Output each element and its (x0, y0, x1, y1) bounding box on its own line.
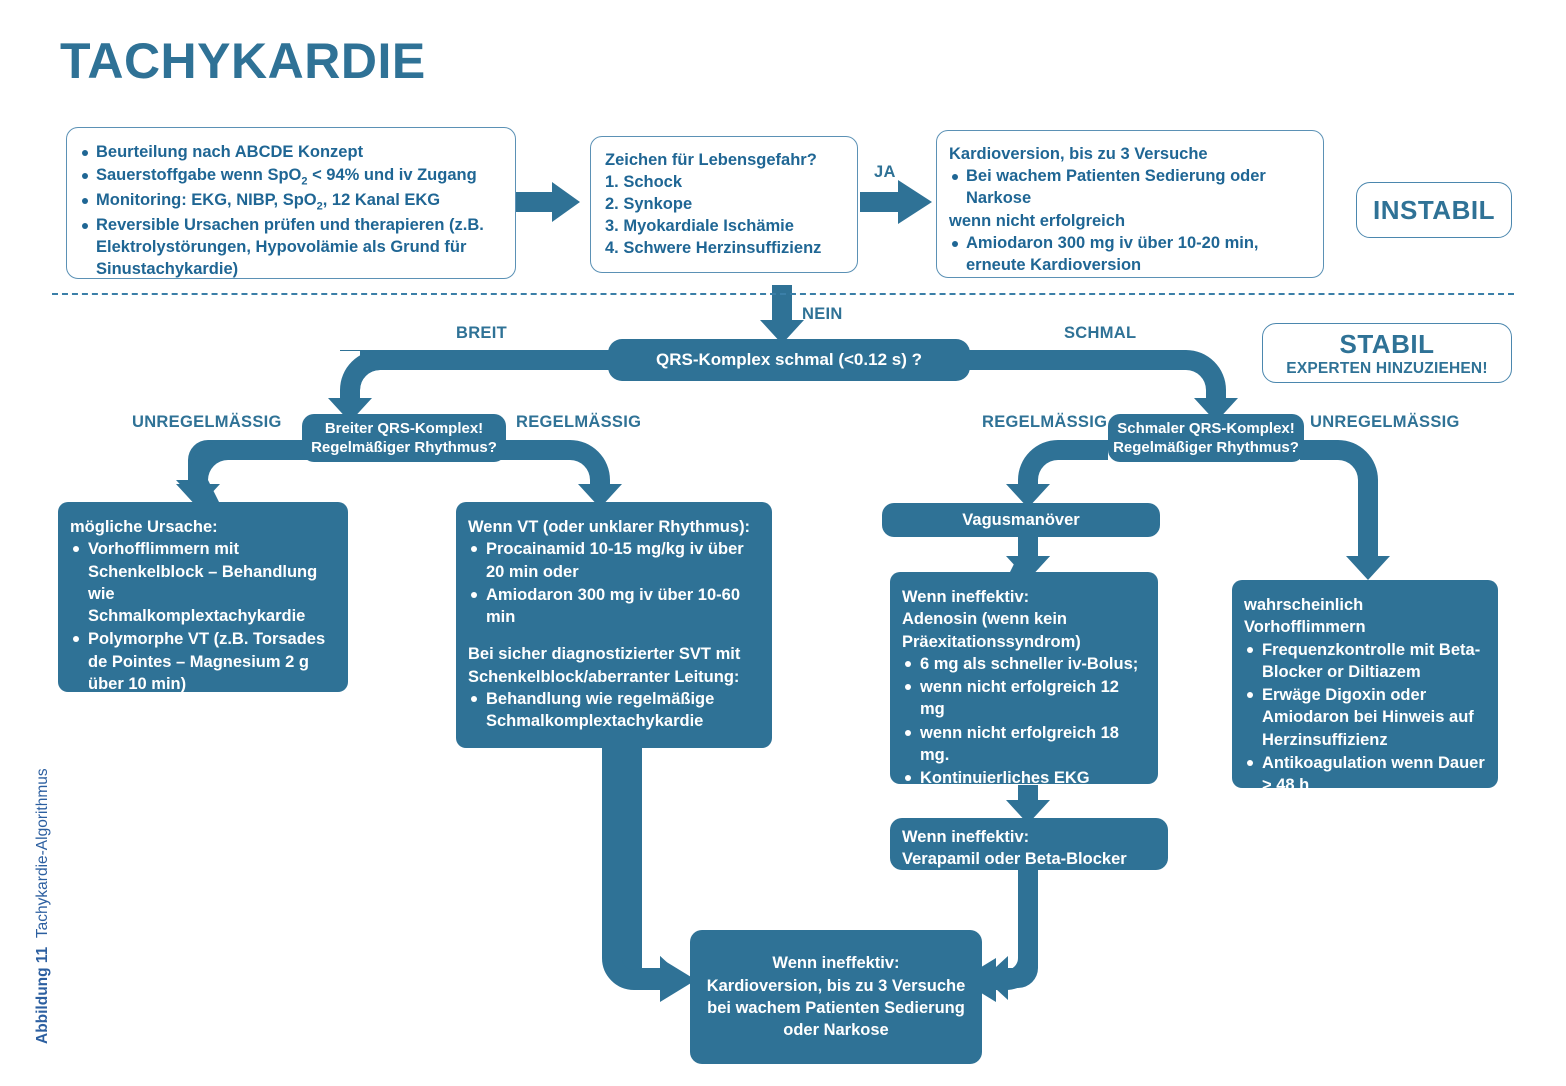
narrow-qrs-line1: Schmaler QRS-Komplex! (1117, 420, 1295, 437)
verapamil-box: Wenn ineffektiv: Verapamil oder Beta-Blo… (890, 818, 1168, 870)
vt-heading: Wenn VT (oder unklarer Rhythmus): (468, 516, 760, 538)
cardioversion-mid-text: wenn nicht erfolgreich (949, 211, 1311, 233)
narrow-qrs-line2: Regelmäßiger Rhythmus? (1113, 439, 1299, 456)
vt-heading2-line1: Bei sicher diagnostizierter SVT mit (468, 643, 760, 665)
verapamil-line2: Verapamil oder Beta-Blocker (902, 848, 1156, 870)
list-item: Kontinuierliches EKG Monitoring (902, 767, 1146, 812)
verapamil-line1: Wenn ineffektiv: (902, 826, 1156, 848)
list-item: Beurteilung nach ABCDE Konzept (79, 142, 501, 164)
tachycardia-algorithm-figure: TACHYKARDIE Beurteilung nach ABCDE Konze… (0, 0, 1566, 1086)
list-item: Vorhofflimmern mit Schenkelblock – Behan… (70, 538, 336, 627)
status-badge-stabil: STABIL EXPERTEN HINZUZIEHEN! (1262, 323, 1512, 383)
final-line1: Wenn ineffektiv: (772, 954, 899, 972)
final-line4: oder Narkose (783, 1021, 888, 1039)
initial-assessment-box: Beurteilung nach ABCDE Konzept Sauerstof… (66, 127, 516, 279)
vt-heading2-line2: Schenkelblock/aberranter Leitung: (468, 666, 760, 688)
figure-caption-text: Tachykardie-Algorithmus (34, 768, 51, 938)
list-item: wenn nicht erfolgreich 12 mg (902, 676, 1146, 721)
list-item: 3. Myokardiale Ischämie (605, 216, 847, 238)
list-item: wenn nicht erfolgreich 18 mg. (902, 722, 1146, 767)
list-item: 6 mg als schneller iv-Bolus; (902, 653, 1146, 675)
qrs-decision-box: QRS-Komplex schmal (<0.12 s) ? (608, 339, 970, 381)
page-title: TACHYKARDIE (60, 32, 426, 90)
list-item: Amiodaron 300 mg iv über 10-20 min, erne… (949, 233, 1311, 277)
vt-treatment-box: Wenn VT (oder unklarer Rhythmus): Procai… (456, 502, 772, 748)
status-badge-instabil: INSTABIL (1356, 182, 1512, 238)
list-item: Amiodaron 300 mg iv über 10-60 min (468, 584, 760, 629)
possible-cause-heading: mögliche Ursache: (70, 516, 336, 538)
wide-qrs-decision-box: Breiter QRS-Komplex! Regelmäßiger Rhythm… (302, 414, 506, 462)
edge-label-breit: BREIT (456, 324, 507, 343)
status-badge-stabil-sublabel: EXPERTEN HINZUZIEHEN! (1286, 360, 1487, 378)
atrial-fibrillation-box: wahrscheinlich Vorhofflimmern Frequenzko… (1232, 580, 1498, 788)
list-item: Sauerstoffgabe wenn SpO2 < 94% und iv Zu… (79, 165, 501, 189)
edge-label-left-unregelmaessig: UNREGELMÄSSIG (132, 413, 282, 432)
status-badge-stabil-label: STABIL (1340, 329, 1435, 360)
figure-caption: Abbildung 11 Tachykardie-Algorithmus (34, 714, 52, 1044)
list-item: 2. Synkope (605, 194, 847, 216)
list-item: Reversible Ursachen prüfen und therapier… (79, 215, 501, 281)
danger-signs-box: Zeichen für Lebensgefahr? 1. Schock 2. S… (590, 136, 858, 273)
cardioversion-box: Kardioversion, bis zu 3 Versuche Bei wac… (936, 130, 1324, 278)
list-item: Erwäge Digoxin oder Amiodaron bei Hinwei… (1244, 684, 1486, 751)
adenosine-sub-line1: Adenosin (wenn kein (902, 608, 1146, 630)
edge-label-schmal: SCHMAL (1064, 324, 1136, 343)
edge-label-right-unregelmaessig: UNREGELMÄSSIG (1310, 413, 1460, 432)
edge-label-right-regelmaessig: REGELMÄSSIG (982, 413, 1107, 432)
final-line2: Kardioversion, bis zu 3 Versuche (707, 977, 966, 995)
figure-caption-number: Abbildung 11 (34, 947, 51, 1044)
spacer (468, 629, 760, 643)
wide-qrs-line2: Regelmäßiger Rhythmus? (311, 439, 497, 456)
edge-label-nein: NEIN (802, 305, 843, 324)
list-item: Polymorphe VT (z.B. Torsades de Pointes … (70, 628, 336, 695)
edge-label-left-regelmaessig: REGELMÄSSIG (516, 413, 641, 432)
list-item: 4. Schwere Herzinsuffizienz (605, 238, 847, 260)
vagus-maneuver-box: Vagusmanöver (882, 503, 1160, 537)
list-item: Bei wachem Patienten Sedierung oder Nark… (949, 166, 1311, 210)
list-item: Frequenzkontrolle mit Beta-Blocker or Di… (1244, 639, 1486, 684)
adenosine-heading: Wenn ineffektiv: (902, 586, 1146, 608)
edge-label-ja: JA (874, 163, 896, 182)
list-item: Monitoring: EKG, NIBP, SpO2, 12 Kanal EK… (79, 190, 501, 214)
list-item: Behandlung wie regelmäßige Schmalkomplex… (468, 688, 760, 733)
list-item: Procainamid 10-15 mg/kg iv über 20 min o… (468, 538, 760, 583)
final-cardioversion-box: Wenn ineffektiv: Kardioversion, bis zu 3… (690, 930, 982, 1064)
danger-signs-heading: Zeichen für Lebensgefahr? (605, 150, 847, 172)
final-line3: bei wachem Patienten Sedierung (707, 999, 965, 1017)
adenosine-sub-line2: Präexitationssyndrom) (902, 631, 1146, 653)
af-heading: wahrscheinlich Vorhofflimmern (1244, 594, 1486, 639)
adenosine-box: Wenn ineffektiv: Adenosin (wenn kein Prä… (890, 572, 1158, 784)
status-badge-instabil-label: INSTABIL (1373, 195, 1495, 226)
narrow-qrs-decision-box: Schmaler QRS-Komplex! Regelmäßiger Rhyth… (1108, 414, 1304, 462)
cardioversion-heading: Kardioversion, bis zu 3 Versuche (949, 144, 1311, 166)
list-item: Antikoagulation wenn Dauer > 48 h (1244, 752, 1486, 797)
possible-cause-box: mögliche Ursache: Vorhofflimmern mit Sch… (58, 502, 348, 692)
stable-unstable-divider (52, 293, 1514, 295)
list-item: 1. Schock (605, 172, 847, 194)
wide-qrs-line1: Breiter QRS-Komplex! (325, 420, 483, 437)
